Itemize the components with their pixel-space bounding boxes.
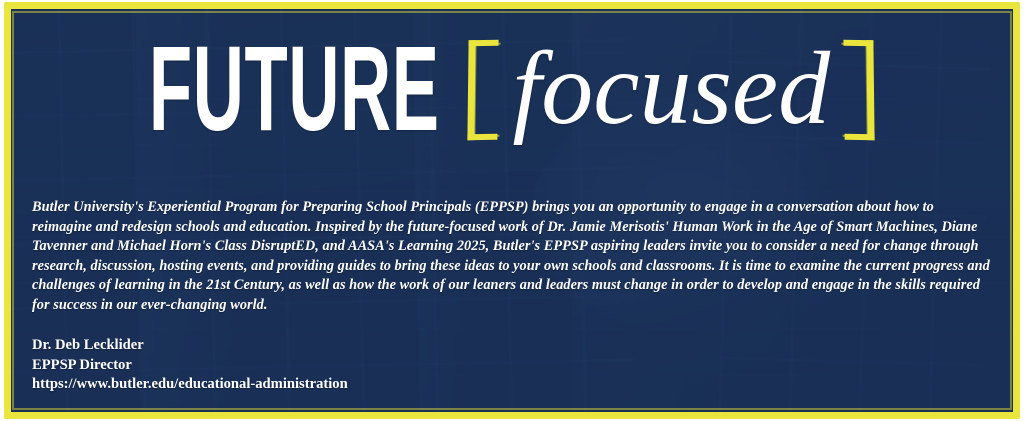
headline-word-focused: focused xyxy=(512,37,830,141)
left-bracket-icon xyxy=(468,40,499,140)
bracketed-word-group: focused xyxy=(466,26,876,151)
headline-word-future: FUTURE xyxy=(149,28,440,148)
headline: FUTURE focused xyxy=(0,26,1024,151)
future-focused-banner: FUTURE focused Butler University's Exper… xyxy=(0,0,1024,422)
body-paragraph: Butler University's Experiential Program… xyxy=(32,198,994,316)
signature-name: Dr. Deb Lecklider xyxy=(32,336,348,356)
signature-role: EPPSP Director xyxy=(32,356,348,376)
signature-block: Dr. Deb Lecklider EPPSP Director https:/… xyxy=(32,336,348,395)
signature-url[interactable]: https://www.butler.edu/educational-admin… xyxy=(32,375,348,395)
right-bracket-icon xyxy=(843,40,874,140)
banner-content: FUTURE focused Butler University's Exper… xyxy=(0,0,1024,422)
